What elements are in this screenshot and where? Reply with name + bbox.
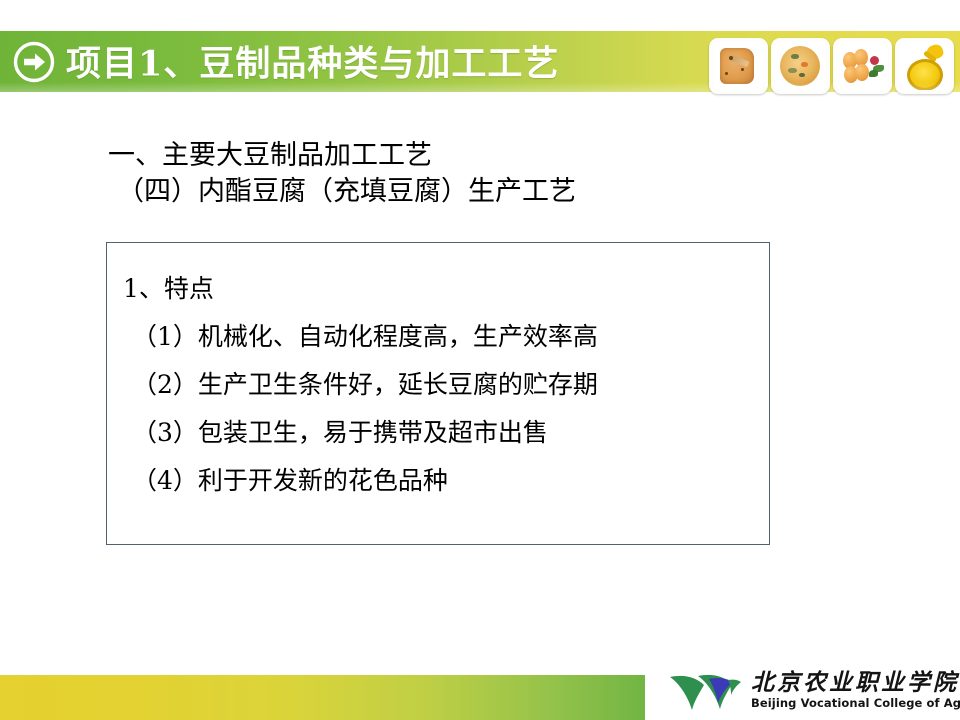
- bread-crumb-shape: [725, 72, 728, 75]
- gratin-topping-shape: [788, 68, 797, 73]
- footer-gradient-bar: [0, 675, 645, 720]
- custard-pudding-photo: [895, 38, 954, 94]
- thumb-plate: [713, 42, 764, 90]
- content-heading: 1、特点: [123, 265, 769, 313]
- thumb-plate: [899, 42, 950, 90]
- gratin-topping-shape: [801, 62, 808, 67]
- subtitle-line-2: （四）内酯豆腐（充填豆腐）生产工艺: [108, 174, 868, 210]
- thumb-plate: [775, 42, 826, 90]
- bread-crumb-shape: [741, 68, 744, 71]
- list-item: （1）机械化、自动化程度高，生产效率高: [123, 313, 769, 361]
- garnish-shape: [869, 70, 878, 77]
- bread-slice-shape: [720, 48, 754, 84]
- institution-logo: 北京农业职业学院 Beijing Vocational College of A…: [668, 664, 958, 716]
- slide-header-bar: 项目1、豆制品种类与加工工艺: [0, 31, 960, 92]
- list-item: （4）利于开发新的花色品种: [123, 457, 769, 505]
- logo-name-chinese: 北京农业职业学院: [751, 670, 960, 696]
- fried-croquettes-photo: [833, 38, 892, 94]
- subtitle-line-1: 一、主要大豆制品加工工艺: [108, 138, 868, 174]
- thumb-plate: [837, 42, 888, 90]
- gratin-topping-shape: [799, 73, 805, 77]
- bread-slice-photo: [709, 38, 768, 94]
- list-item: （2）生产卫生条件好，延长豆腐的贮存期: [123, 361, 769, 409]
- content-box: 1、特点 （1）机械化、自动化程度高，生产效率高 （2）生产卫生条件好，延长豆腐…: [106, 242, 770, 545]
- garnish-shape: [870, 56, 879, 65]
- content-list: 1、特点 （1）机械化、自动化程度高，生产效率高 （2）生产卫生条件好，延长豆腐…: [107, 243, 769, 505]
- gratin-shape: [780, 46, 820, 86]
- arrow-right-circle-icon: [12, 40, 56, 84]
- page-title: 项目1、豆制品种类与加工工艺: [66, 35, 559, 86]
- header-food-thumbnails: [709, 38, 955, 94]
- logo-text-block: 北京农业职业学院 Beijing Vocational College of A…: [751, 670, 960, 710]
- gratin-topping-shape: [791, 54, 799, 59]
- logo-name-english: Beijing Vocational College of Agricultur…: [751, 696, 960, 710]
- subtitle-block: 一、主要大豆制品加工工艺 （四）内酯豆腐（充填豆腐）生产工艺: [108, 138, 868, 210]
- bread-crumb-shape: [729, 56, 733, 60]
- croquette-shape: [855, 64, 869, 81]
- baked-gratin-photo: [771, 38, 830, 94]
- pudding-bowl-shape: [907, 59, 943, 90]
- list-item: （3）包装卫生，易于携带及超市出售: [123, 409, 769, 457]
- bvca-w-logo-icon: [668, 668, 742, 712]
